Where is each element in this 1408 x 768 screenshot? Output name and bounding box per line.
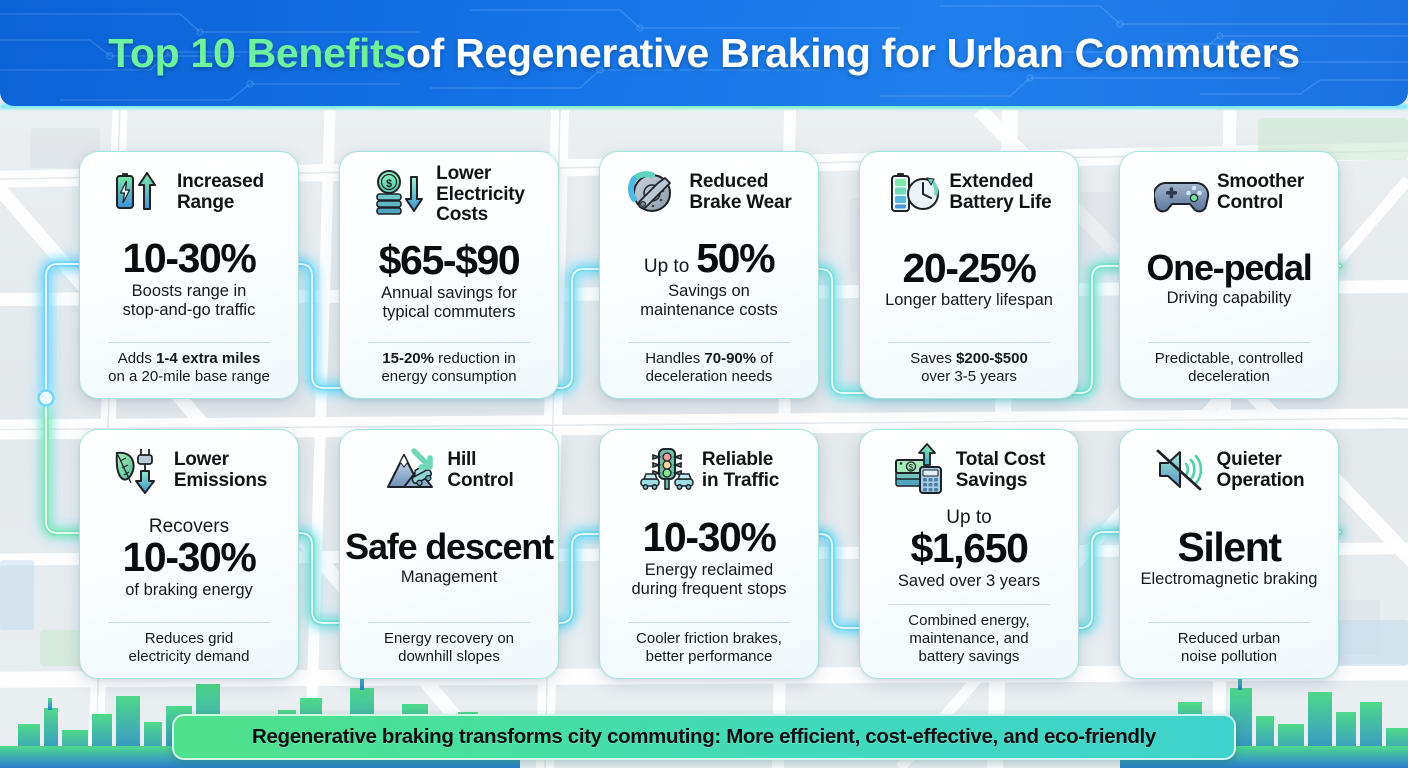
card-stat-value: 20-25% (903, 248, 1036, 290)
mountain-car-descent-icon (384, 443, 440, 499)
card-header: HillControl (350, 442, 548, 500)
card-header: $ LowerElectricityCosts (350, 164, 548, 226)
battery-up-arrow-icon (114, 165, 170, 221)
card-stat-sub: Longer battery lifespan (885, 291, 1053, 310)
card-stat-sub: Driving capability (1167, 289, 1292, 308)
benefit-card-lower-electricity-costs[interactable]: $ LowerElectricityCosts $65-$90 Annual s… (339, 151, 559, 399)
card-title: ExtendedBattery Life (949, 172, 1051, 213)
card-body: Safe descent Management (350, 500, 548, 614)
card-footnote: Reduced urbannoise pollution (1176, 630, 1283, 668)
card-title: Reliablein Traffic (702, 450, 779, 491)
summary-banner: Regenerative braking transforms city com… (172, 714, 1236, 760)
benefit-card-total-cost-savings[interactable]: $ Total CostSavings Up to $1,650 Saved o… (859, 429, 1079, 679)
benefit-card-increased-range[interactable]: IncreasedRange 10-30% Boosts range insto… (79, 151, 299, 399)
card-stat-value: Safe descent (345, 529, 553, 566)
benefit-card-quieter-operation[interactable]: QuieterOperation Silent Electromagnetic … (1119, 429, 1339, 679)
card-title: HillControl (447, 450, 513, 491)
card-stat-value: 50% (696, 238, 774, 280)
card-body: $65-$90 Annual savings fortypical commut… (350, 226, 548, 334)
card-body: Up to 50% Savings onmaintenance costs (610, 222, 808, 334)
traffic-light-cars-icon (639, 443, 695, 499)
card-stat-prefix: Up to (644, 256, 689, 277)
card-stat-sub: Management (401, 568, 497, 587)
benefit-card-lower-emissions[interactable]: LowerEmissions Recovers 10-30% of brakin… (79, 429, 299, 679)
card-body: 10-30% Energy reclaimedduring frequent s… (610, 500, 808, 614)
card-header: $ Total CostSavings (870, 442, 1068, 500)
svg-text:$: $ (909, 463, 914, 472)
card-stat-value: 10-30% (123, 238, 256, 280)
card-stat-value: $1,650 (910, 528, 1027, 570)
card-title: IncreasedRange (177, 172, 264, 213)
card-divider (628, 622, 790, 623)
card-body: Up to $1,650 Saved over 3 years (870, 500, 1068, 596)
card-header: ExtendedBattery Life (870, 164, 1068, 222)
leaf-plug-down-arrow-icon (111, 443, 167, 499)
card-header: LowerEmissions (90, 442, 288, 500)
card-stat-sub: Boosts range instop-and-go traffic (123, 282, 256, 320)
title-accent-text: Top 10 Benefits (108, 30, 406, 77)
title-rest-text: of Regenerative Braking for Urban Commut… (406, 30, 1300, 77)
card-body: Silent Electromagnetic braking (1130, 500, 1328, 614)
brake-disc-wrench-icon (626, 165, 682, 221)
card-footnote: Handles 70-90% ofdeceleration needs (643, 350, 775, 388)
card-header: Reliablein Traffic (610, 442, 808, 500)
benefit-card-reduced-brake-wear[interactable]: ReducedBrake Wear Up to 50% Savings onma… (599, 151, 819, 399)
card-divider (1148, 622, 1310, 623)
card-title: LowerEmissions (174, 450, 267, 491)
card-divider (108, 622, 270, 623)
card-title: QuieterOperation (1217, 450, 1305, 491)
card-stat-value: 10-30% (123, 537, 256, 579)
card-stat-sub: Electromagnetic braking (1140, 570, 1317, 589)
card-footnote: Combined energy,maintenance, andbattery … (906, 612, 1031, 668)
card-divider (368, 622, 530, 623)
card-stat-value: $65-$90 (379, 240, 520, 282)
card-footnote: Reduces gridelectricity demand (127, 630, 252, 668)
card-divider (108, 342, 270, 343)
card-footnote: Saves $200-$500over 3-5 years (908, 350, 1030, 388)
card-body: Recovers 10-30% of braking energy (90, 500, 288, 614)
card-stat-row: Up to 50% (644, 238, 774, 280)
benefit-card-smoother-control[interactable]: SmootherControl One-pedal Driving capabi… (1119, 151, 1339, 399)
card-header: ReducedBrake Wear (610, 164, 808, 222)
card-header: QuieterOperation (1130, 442, 1328, 500)
summary-banner-text: Regenerative braking transforms city com… (252, 725, 1156, 749)
benefit-card-reliable-in-traffic[interactable]: Reliablein Traffic 10-30% Energy reclaim… (599, 429, 819, 679)
card-stat-value: 10-30% (643, 517, 776, 559)
card-footnote: Energy recovery ondownhill slopes (382, 630, 516, 668)
svg-text:$: $ (386, 178, 392, 190)
card-divider (628, 342, 790, 343)
card-title: LowerElectricityCosts (436, 164, 525, 226)
card-footnote: Adds 1-4 extra mileson a 20-mile base ra… (106, 350, 272, 388)
benefit-card-extended-battery-life[interactable]: ExtendedBattery Life 20-25% Longer batte… (859, 151, 1079, 399)
card-divider (1148, 342, 1310, 343)
page-title: Top 10 Benefits of Regenerative Braking … (0, 0, 1408, 106)
card-stat-sub: Energy reclaimedduring frequent stops (631, 561, 786, 599)
card-header: IncreasedRange (90, 164, 288, 222)
cash-calculator-up-arrow-icon: $ (893, 443, 949, 499)
card-body: 10-30% Boosts range instop-and-go traffi… (90, 222, 288, 334)
card-stat-sub: Savings onmaintenance costs (640, 282, 778, 320)
card-stat-value: One-pedal (1146, 250, 1311, 287)
card-divider (368, 342, 530, 343)
card-divider (888, 342, 1050, 343)
card-stat-value: Silent (1177, 527, 1280, 569)
benefit-card-hill-control[interactable]: HillControl Safe descent Management Ener… (339, 429, 559, 679)
header-banner: Top 10 Benefits of Regenerative Braking … (0, 0, 1408, 106)
coins-down-arrow-icon: $ (373, 167, 429, 223)
battery-clock-icon (886, 165, 942, 221)
gamepad-controller-icon (1154, 165, 1210, 221)
card-footnote: Predictable, controlleddeceleration (1153, 350, 1305, 388)
card-body: One-pedal Driving capability (1130, 222, 1328, 334)
card-body: 20-25% Longer battery lifespan (870, 222, 1068, 334)
card-footnote: 15-20% reduction inenergy consumption (379, 350, 518, 388)
card-header: SmootherControl (1130, 164, 1328, 222)
card-title: SmootherControl (1217, 172, 1304, 213)
card-stat-sub: Saved over 3 years (898, 572, 1040, 591)
card-divider (888, 604, 1050, 605)
card-stat-sub: of braking energy (125, 581, 253, 600)
card-title: Total CostSavings (956, 450, 1045, 491)
muted-speaker-icon (1154, 443, 1210, 499)
card-footnote: Cooler friction brakes,better performanc… (634, 630, 784, 668)
card-title: ReducedBrake Wear (689, 172, 791, 213)
card-stat-sub: Annual savings fortypical commuters (381, 284, 517, 322)
